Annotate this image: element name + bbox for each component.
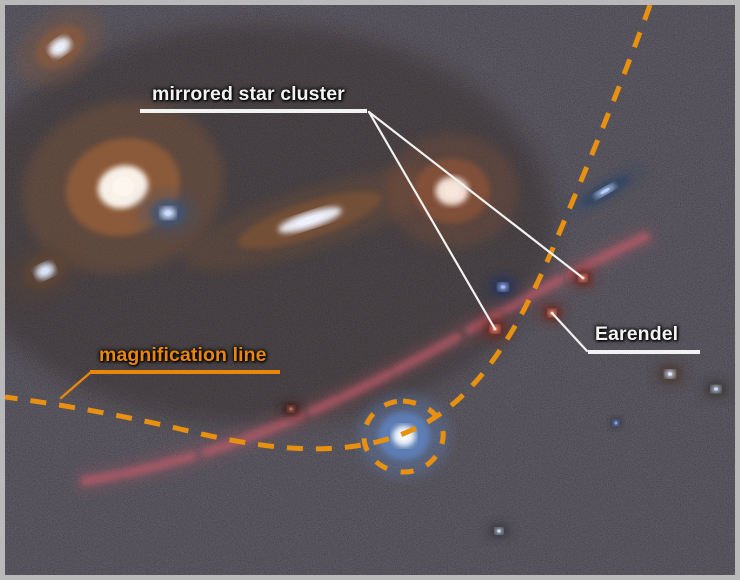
faint-star-right-upper [650, 357, 691, 390]
tiny-blue-dot [609, 416, 624, 431]
small-blue-companion [137, 189, 200, 237]
label-magnification-line: magnification line [99, 344, 267, 367]
red-elliptical-galaxy [385, 134, 518, 249]
earendel-star [535, 298, 568, 328]
blue-point-source [483, 270, 524, 303]
mirrored-cluster-knot-a [566, 263, 599, 293]
label-earendel: Earendel [595, 323, 678, 346]
bright-blue-star [358, 393, 451, 478]
faint-star-right-edge [698, 374, 735, 404]
astronomy-image-figure: mirrored star cluster Earendel magnifica… [0, 0, 740, 580]
deep-field-sky-image [5, 5, 735, 575]
faint-star-bottom [482, 518, 515, 544]
label-mirrored-star-cluster: mirrored star cluster [152, 83, 345, 106]
mirrored-cluster-knot-b [477, 312, 514, 345]
faint-red-knot [276, 398, 306, 420]
